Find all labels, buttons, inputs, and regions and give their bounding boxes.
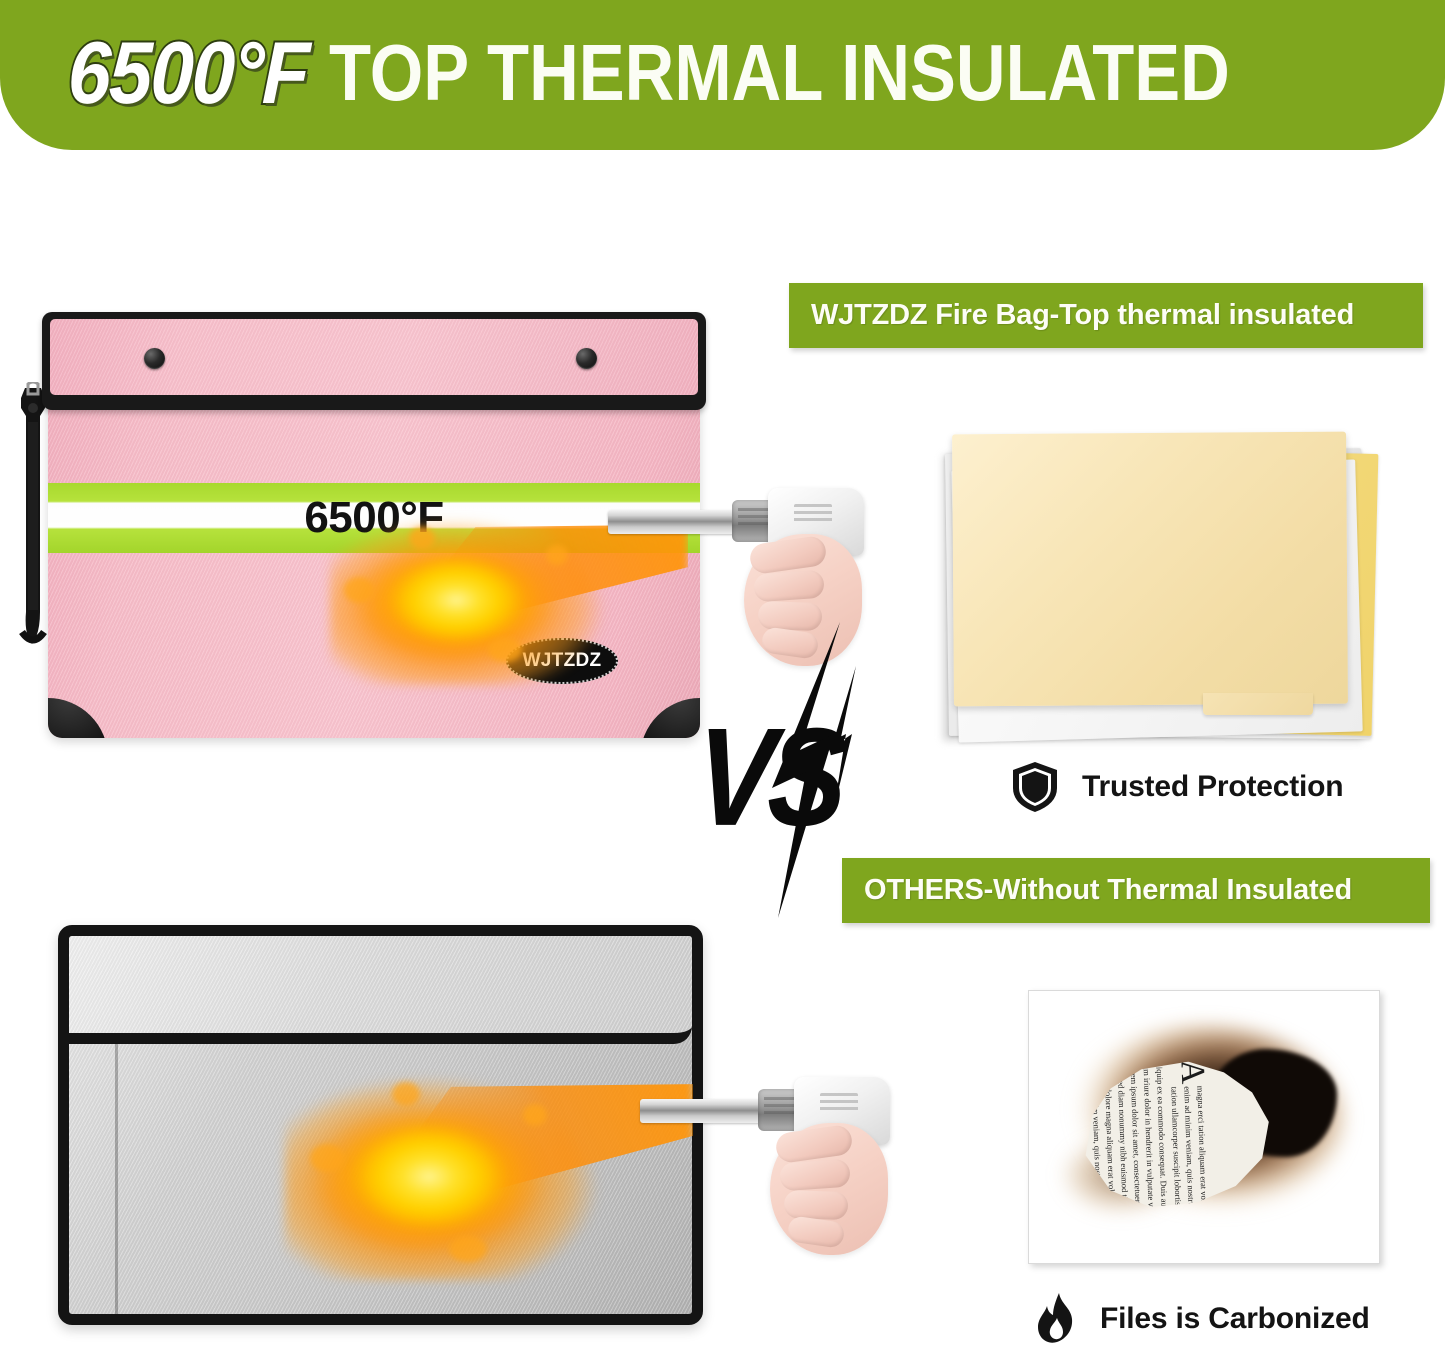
finger bbox=[779, 1159, 851, 1192]
burn-region: A magna erci tation aliquam erat volutpa… bbox=[1053, 1019, 1353, 1229]
torch-vents bbox=[794, 504, 832, 524]
pink-bag-flap bbox=[42, 312, 706, 410]
gray-bag-seam bbox=[115, 1044, 118, 1325]
manila-folder-top bbox=[952, 432, 1348, 707]
torch-barrel bbox=[640, 1099, 766, 1123]
torch-barrel bbox=[608, 510, 740, 534]
header-banner: 6500°F TOP THERMAL INSULATED bbox=[0, 0, 1445, 150]
snap-button-right bbox=[576, 348, 597, 369]
label-others-without-insulation: OTHERS-Without Thermal Insulated bbox=[842, 858, 1430, 923]
gray-bag-flap bbox=[69, 936, 692, 1044]
label-wjtzdz-fire-bag: WJTZDZ Fire Bag-Top thermal insulated bbox=[789, 283, 1423, 348]
finger bbox=[784, 1190, 849, 1220]
pink-bag-temperature-label: 6500°F bbox=[48, 486, 700, 550]
butane-torch-bottom bbox=[640, 1065, 900, 1295]
burned-document: A magna erci tation aliquam erat volutpa… bbox=[1028, 990, 1380, 1264]
brand-badge-text: WJTZDZ bbox=[523, 650, 602, 672]
torch-vents bbox=[820, 1093, 858, 1113]
lightning-bolt-icon bbox=[748, 622, 866, 918]
vs-graphic: VS bbox=[700, 620, 890, 920]
files-carbonized-label: Files is Carbonized bbox=[1100, 1302, 1370, 1336]
corner-reinforcement-left bbox=[48, 698, 108, 738]
gray-bag-body bbox=[58, 925, 703, 1325]
trusted-protection-label: Trusted Protection bbox=[1082, 770, 1343, 804]
brand-badge: WJTZDZ bbox=[506, 638, 618, 684]
label-bottom-text: OTHERS-Without Thermal Insulated bbox=[864, 874, 1352, 907]
finger bbox=[753, 570, 825, 603]
header-temperature: 6500°F bbox=[67, 29, 318, 117]
gray-bag-flap-notch bbox=[572, 936, 692, 1044]
gray-fireproof-bag bbox=[58, 925, 718, 1335]
intact-document-stack bbox=[935, 425, 1375, 755]
trusted-protection-row: Trusted Protection bbox=[1010, 760, 1343, 814]
header-headline: TOP THERMAL INSULATED bbox=[329, 33, 1230, 113]
shield-icon bbox=[1010, 760, 1060, 814]
label-top-text: WJTZDZ Fire Bag-Top thermal insulated bbox=[811, 299, 1354, 332]
folder-tab bbox=[1203, 693, 1313, 715]
flame-icon bbox=[1036, 1292, 1078, 1346]
pink-fireproof-bag: 6500°F WJTZDZ bbox=[10, 300, 710, 760]
snap-button-left bbox=[144, 348, 165, 369]
page-title: 6500°F TOP THERMAL INSULATED bbox=[0, 0, 1445, 150]
files-carbonized-row: Files is Carbonized bbox=[1036, 1292, 1370, 1346]
